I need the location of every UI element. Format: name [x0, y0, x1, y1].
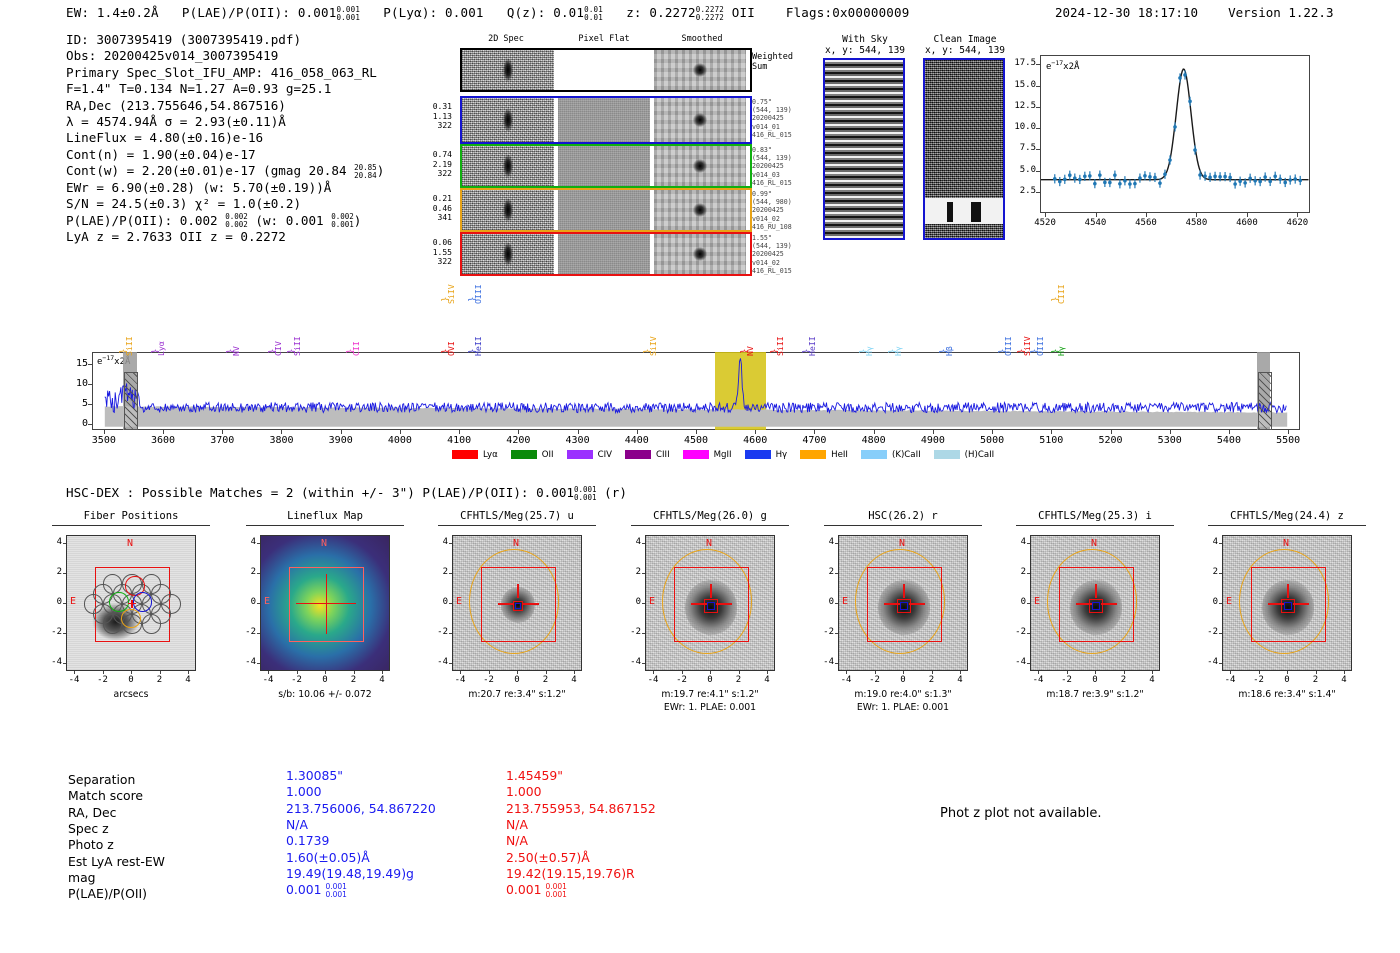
lineplot-xtick [1196, 213, 1197, 217]
cutout-ytick-4: 4 [812, 537, 834, 547]
spectrum-xticklabel: 5100 [1026, 435, 1076, 446]
cutout-tickmark [1027, 603, 1030, 604]
cutout-tickmark [835, 603, 838, 604]
match-table-red-3: N/A [506, 817, 528, 833]
spectrum-legend-item: MgII [683, 450, 732, 460]
cutout-ytick-1: 4 [234, 537, 256, 547]
spectrum-xtick [696, 430, 697, 434]
cutout-ytick-0: 2 [40, 567, 62, 577]
cutout-caption2-4: EWr: 1. PLAE: 0.001 [812, 702, 994, 714]
lineplot-xticklabel: 4520 [1025, 218, 1065, 228]
match-table-label-0: Separation [68, 772, 135, 788]
cutout-tickmark [1124, 671, 1125, 674]
cutout-tickmark [932, 671, 933, 674]
info-line: ID: 3007395419 (3007395419.pdf) [66, 32, 384, 48]
cutout-ytick-3: 0 [619, 597, 641, 607]
spec2d-row-0 [460, 96, 752, 144]
cutout-tickmark [1287, 671, 1288, 674]
lineplot-ytick [1036, 149, 1040, 150]
spectrum-emission-tick: } [441, 297, 451, 302]
cutout-tickmark [1027, 543, 1030, 544]
cutout-xtick-3: 0 [696, 675, 724, 685]
cutout-tickmark [960, 671, 961, 674]
lineplot-ytick [1036, 128, 1040, 129]
spectrum-xtick [400, 430, 401, 434]
cutout-tickmark [188, 671, 189, 674]
cutout-caption-0: arcsecs [40, 689, 222, 701]
cutout-xtick-4: 0 [889, 675, 917, 685]
cutout-tickmark [835, 633, 838, 634]
cutout-caption-1: s/b: 10.06 +/- 0.072 [234, 689, 416, 701]
spectrum-emission-tick: } [346, 349, 356, 354]
cutout-tickmark [449, 603, 452, 604]
header-plae-lo: 0.001 [336, 13, 360, 22]
cutout-ytick-3: 4 [619, 537, 641, 547]
cutout-axes-3[interactable]: NE [645, 535, 775, 671]
info-line: P(LAE)/P(OII): 0.002 0.0020.002 (w: 0.00… [66, 213, 384, 230]
cutout-crosshair-top-5 [1095, 584, 1096, 598]
lineplot-xticklabel: 4580 [1176, 218, 1216, 228]
cutout-ytick-3: -2 [619, 627, 641, 637]
cutout-caption-4: m:19.0 re:4.0" s:1.3" [812, 689, 994, 701]
header-z-label: z: [626, 5, 641, 20]
cutout-axes-5[interactable]: NE [1030, 535, 1160, 671]
spectrum-xticklabel: 5400 [1204, 435, 1254, 446]
info-line: RA,Dec (213.755646,54.867516) [66, 98, 384, 114]
lineplot-yticklabel: 5.0 [1002, 165, 1036, 175]
lineplot-yticklabel: 17.5 [1002, 58, 1036, 68]
spec2d-row-right-label-0: 0.75" (544, 139) 20200425 v014_01 416_RL… [752, 98, 792, 139]
spectrum-legend-swatch [934, 450, 960, 459]
spectrum-legend-label: (K)CaII [892, 450, 921, 460]
compass-east: E [70, 596, 76, 607]
info-line: LineFlux = 4.80(±0.16)e-16 [66, 130, 384, 146]
spectrum-legend-label: OII [542, 450, 554, 460]
cutout-title-underline [1016, 525, 1174, 526]
spectrum-xtick [1051, 430, 1052, 434]
cutout-axes-6[interactable]: NE [1222, 535, 1352, 671]
spectrum-xtick [814, 430, 815, 434]
cutout-tickmark [449, 633, 452, 634]
cutout-subtitle-text: x, y: 544, 139 [820, 45, 910, 56]
cutout-ytick-6: 2 [1196, 567, 1218, 577]
spectrum-xtick [222, 430, 223, 434]
cutout-title-underline [246, 525, 404, 526]
cutout-tickmark [1219, 573, 1222, 574]
lineplot-yticklabel: 10.0 [1002, 122, 1036, 132]
spectrum-yticklabel: 5 [64, 398, 88, 409]
cutout-xtick-6: -4 [1216, 675, 1244, 685]
spec2d-source-blob [496, 234, 520, 274]
lineplot-xtick [1045, 213, 1046, 217]
cutout-axes-1[interactable]: NE [260, 535, 390, 671]
spectrum-xtick [1288, 430, 1289, 434]
spec2d-cell [558, 146, 650, 186]
cutout-crosshair-top-2 [517, 584, 518, 598]
cutout-ytick-1: -2 [234, 627, 256, 637]
cutout-caption2-3: EWr: 1. PLAE: 0.001 [619, 702, 801, 714]
cutout-title-underline [438, 525, 596, 526]
info-line: F=1.4" T=0.134 N=1.27 A=0.93 g=25.1 [66, 81, 384, 97]
lineplot-xticklabel: 4600 [1227, 218, 1267, 228]
cutout-tickmark [382, 671, 383, 674]
cutout-tickmark [160, 671, 161, 674]
cutout-xtick-2: -2 [475, 675, 503, 685]
cutout-caption-3: m:19.7 re:4.1" s:1.2" [619, 689, 801, 701]
spectrum-legend-item: CIII [625, 450, 670, 460]
cutout-title-6: CFHTLS/Meg(24.4) z [1200, 510, 1374, 522]
cutout-tickmark [835, 573, 838, 574]
cutout-crosshair-right-6 [1293, 603, 1309, 604]
hscdex-sub: 0.001 [574, 493, 597, 502]
cutout-crosshair-top-6 [1287, 584, 1288, 598]
info-line: Primary Spec_Slot_IFU_AMP: 416_058_063_R… [66, 65, 384, 81]
spectrum-yticklabel: 15 [64, 358, 88, 369]
cutout-axes-0[interactable]: NE [66, 535, 196, 671]
header-version: Version 1.22.3 [1228, 5, 1333, 20]
spec2d-source-blob [496, 98, 520, 142]
cutout-tickmark [297, 671, 298, 674]
spectrum-emission-tick: } [226, 349, 236, 354]
cutout-tickmark [767, 671, 768, 674]
lineplot-yticklabel: 12.5 [1002, 101, 1036, 111]
cutout-caption-2: m:20.7 re:3.4" s:1.2" [426, 689, 608, 701]
cutout-pixels [825, 60, 903, 238]
spectrum-legend-label: (H)CaII [965, 450, 995, 460]
cutout-xtick-0: -4 [60, 675, 88, 685]
spectrum-ytick [88, 424, 92, 425]
cutout-crosshair-right-4 [909, 603, 925, 604]
cutout-xtick-2: 4 [560, 675, 588, 685]
spec2d-title-0: 2D Spec [476, 34, 536, 44]
cutout-ytick-3: -4 [619, 657, 641, 667]
cutout-ytick-4: 2 [812, 567, 834, 577]
spectrum-xticklabel: 5500 [1263, 435, 1313, 446]
cutout-tickmark [268, 671, 269, 674]
spectrum-xtick [933, 430, 934, 434]
spectrum-emission-tick: } [939, 349, 949, 354]
spectrum-emission-tick: } [998, 349, 1008, 354]
hscdex-summary-line: HSC-DEX : Possible Matches = 2 (within +… [66, 485, 627, 502]
cutout-caption-6: m:18.6 re:3.4" s:1.4" [1196, 689, 1378, 701]
spec2d-cell [558, 234, 650, 274]
cutout-ytick-2: -4 [426, 657, 448, 667]
cutout-tickmark [257, 573, 260, 574]
header-z-lo: 0.2272 [696, 13, 724, 22]
cutout-title-4: HSC(26.2) r [816, 510, 990, 522]
cutout-xtick-5: 0 [1081, 675, 1109, 685]
lineplot-xtick [1146, 213, 1147, 217]
lineplot-yticklabel: 2.5 [1002, 186, 1036, 196]
spectrum-emission-tick: } [468, 349, 478, 354]
cutout-xtick-0: 4 [174, 675, 202, 685]
spec2d-cell [558, 50, 650, 90]
cutout-xtick-4: -2 [861, 675, 889, 685]
spectrum-xtick [755, 430, 756, 434]
gmag-range: 20.8520.84 [354, 164, 377, 180]
compass-east: E [456, 596, 462, 607]
compass-east: E [1226, 596, 1232, 607]
cutout-tickmark [257, 543, 260, 544]
cutout-tickmark [63, 603, 66, 604]
spectrum-legend-swatch [625, 450, 651, 459]
cutout-tickmark [103, 671, 104, 674]
cutout-ytick-2: 2 [426, 567, 448, 577]
lineplot-xticklabel: 4560 [1126, 218, 1166, 228]
spec2d-row-right-label-1: 0.83" (544, 139) 20200425 v014_03 416_RL… [752, 146, 792, 187]
cutout-axes-4[interactable]: NE [838, 535, 968, 671]
spectrum-xtick [1229, 430, 1230, 434]
lineplot-ytick [1036, 86, 1040, 87]
match-table-red-0: 1.45459" [506, 768, 563, 784]
cutout-tickmark [642, 633, 645, 634]
spec2d-source-blob [688, 146, 712, 186]
cutout-tickmark [1095, 671, 1096, 674]
spectrum-yticklabel: 0 [64, 418, 88, 429]
compass-north: N [1283, 538, 1289, 549]
detection-info-block: ID: 3007395419 (3007395419.pdf)Obs: 2020… [66, 32, 384, 245]
cutout-tickmark [449, 663, 452, 664]
cutout-ytick-5: 2 [1004, 567, 1026, 577]
match-table-label-4: Photo z [68, 837, 114, 853]
spectrum-legend-item: Lyα [452, 450, 498, 460]
cutout-tickmark [257, 603, 260, 604]
cutout-xtick-3: -2 [668, 675, 696, 685]
spectrum-xticklabel: 3800 [256, 435, 306, 446]
match-table-red-4: N/A [506, 833, 528, 849]
match-table-label-1: Match score [68, 788, 143, 804]
cutout-xtick-5: 2 [1110, 675, 1138, 685]
cutout-ytick-6: 4 [1196, 537, 1218, 547]
cutout-ytick-2: 0 [426, 597, 448, 607]
hscdex-filter: (r) [604, 485, 627, 500]
cutout-title-3: CFHTLS/Meg(26.0) g [623, 510, 797, 522]
match-table-red-6: 19.42(19.15,19.76)R [506, 866, 635, 882]
lineplot-ytick [1036, 64, 1040, 65]
compass-north: N [899, 538, 905, 549]
cutout-tickmark [1219, 663, 1222, 664]
lineflux-redbox [289, 567, 364, 642]
spec2d-weighted-sum-row [460, 48, 752, 92]
cutout-tickmark [642, 543, 645, 544]
compass-east: E [1034, 596, 1040, 607]
cutout-ytick-3: 2 [619, 567, 641, 577]
match-table-label-3: Spec z [68, 821, 109, 837]
clean-image-mask-block [971, 202, 981, 222]
cutout-tickmark [1027, 573, 1030, 574]
spectrum-emission-tick: } [287, 349, 297, 354]
cutout-tickmark [63, 663, 66, 664]
cutout-ytick-2: -2 [426, 627, 448, 637]
spectrum-ytick [88, 404, 92, 405]
cutout-tickmark [682, 671, 683, 674]
spectrum-emission-tick: } [119, 349, 129, 354]
info-line: LyA z = 2.7633 OII z = 0.2272 [66, 229, 384, 245]
spectrum-emission-tick: } [268, 349, 278, 354]
cutout-title-underline [824, 525, 982, 526]
spectrum-xticklabel: 3900 [316, 435, 366, 446]
spectrum-xticklabel: 5200 [1086, 435, 1136, 446]
match-table-red-7-range: 0.0010.001 [545, 883, 566, 899]
spectrum-legend-label: CIV [598, 450, 612, 460]
header-z-species: OII [732, 5, 755, 20]
cutout-ytick-4: -4 [812, 657, 834, 667]
compass-north: N [127, 538, 133, 549]
header-z-value: 0.2272 [649, 5, 695, 20]
info-line: Cont(n) = 1.90(±0.04)e-17 [66, 147, 384, 163]
cutout-ytick-4: -2 [812, 627, 834, 637]
lineplot-xtick [1096, 213, 1097, 217]
cutout-title-clean-image: Clean Imagex, y: 544, 139 [920, 34, 1010, 56]
photoz-note: Phot z plot not available. [940, 806, 1102, 821]
spectrum-hatch-marker [124, 372, 138, 430]
match-table-label-7: P(LAE)/P(OII) [68, 886, 147, 902]
header-flags: Flags:0x00000009 [786, 5, 910, 20]
cutout-axes-2[interactable]: NE [452, 535, 582, 671]
spectrum-xticklabel: 4000 [375, 435, 425, 446]
compass-north: N [321, 538, 327, 549]
spectrum-xticklabel: 3500 [79, 435, 129, 446]
match-table-blue-6: 19.49(19.48,19.49)g [286, 866, 414, 882]
cutout-tickmark [449, 543, 452, 544]
spectrum-ytick [88, 364, 92, 365]
spec2d-title-1: Pixel Flat [574, 34, 634, 44]
cutout-tickmark [1038, 671, 1039, 674]
match-table-blue-2: 213.756006, 54.867220 [286, 801, 436, 817]
cutout-inner-blue-box-5 [1092, 602, 1100, 610]
cutout-inner-blue-box-3 [707, 602, 715, 610]
spectrum-legend-label: Lyα [483, 450, 498, 460]
spectrum-legend-label: HeII [831, 450, 848, 460]
spec2d-title-2: Smoothed [672, 34, 732, 44]
match-table-label-6: mag [68, 870, 96, 886]
spectrum-xticklabel: 3600 [138, 435, 188, 446]
cutout-xtick-0: 0 [117, 675, 145, 685]
info-line: Obs: 20200425v014_3007395419 [66, 48, 384, 64]
plae-w-range: 0.0020.001 [331, 213, 354, 229]
cutout-xtick-6: -2 [1245, 675, 1273, 685]
header-plya: P(Lyα): 0.001 [383, 5, 483, 20]
spec2d-row-left-label-1: 0.74 2.19 322 [418, 150, 452, 179]
cutout-xtick-6: 4 [1330, 675, 1358, 685]
cutout-xtick-1: 4 [368, 675, 396, 685]
spectrum-hatch-marker [1258, 372, 1272, 430]
cutout-tickmark [1219, 603, 1222, 604]
compass-east: E [649, 596, 655, 607]
cutout-xtick-2: 2 [532, 675, 560, 685]
cutout-ytick-5: 4 [1004, 537, 1026, 547]
spectrum-legend-label: MgII [714, 450, 732, 460]
cutout-title-with-sky: With Skyx, y: 544, 139 [820, 34, 910, 56]
spectrum-xtick [281, 430, 282, 434]
fiber-circle [142, 614, 162, 634]
match-table-blue-5: 1.60(±0.05)Å [286, 850, 370, 866]
spectrum-xtick [341, 430, 342, 434]
cutout-tickmark [846, 671, 847, 674]
spectrum-legend-item: HeII [800, 450, 848, 460]
cutout-tickmark [517, 671, 518, 674]
spectrum-xticklabel: 3700 [197, 435, 247, 446]
cutout-crosshair-right-5 [1101, 603, 1117, 604]
spectrum-emission-tick: } [1030, 349, 1040, 354]
spectrum-emission-tick: } [441, 349, 451, 354]
cutout-crosshair-left-2 [498, 603, 514, 604]
cutout-tickmark [1259, 671, 1260, 674]
cutout-image-with-sky [823, 58, 905, 240]
spectrum-legend-swatch [745, 450, 771, 459]
cutout-xtick-4: 4 [946, 675, 974, 685]
cutout-caption-5: m:18.7 re:3.9" s:1.2" [1004, 689, 1186, 701]
spectrum-xtick [874, 430, 875, 434]
fiber-center-marker [131, 600, 132, 608]
lineplot-xtick [1247, 213, 1248, 217]
cutout-tickmark [835, 663, 838, 664]
cutout-title-1: Lineflux Map [238, 510, 412, 522]
cutout-tickmark [449, 573, 452, 574]
cutout-tickmark [325, 671, 326, 674]
spectrum-xtick [1170, 430, 1171, 434]
spectrum-xtick [992, 430, 993, 434]
cutout-tickmark [257, 663, 260, 664]
spectrum-legend-swatch [511, 450, 537, 459]
lineplot-yticklabel: 7.5 [1002, 143, 1036, 153]
fiber-circle-highlight-3 [121, 609, 141, 629]
cutout-image-clean-image [923, 58, 1005, 240]
cutout-tickmark [63, 573, 66, 574]
cutout-xtick-0: 2 [146, 675, 174, 685]
cutout-xtick-3: -4 [639, 675, 667, 685]
spec2d-source-blob [688, 98, 712, 142]
lineplot-ytick [1036, 171, 1040, 172]
header-timestamp: 2024-12-30 18:17:10 [1055, 5, 1198, 20]
match-table-blue-7: 0.001 0.0010.001 [286, 882, 347, 899]
cutout-tickmark [574, 671, 575, 674]
compass-north: N [706, 538, 712, 549]
spectrum-trace [93, 353, 1299, 429]
cutout-xtick-0: -2 [89, 675, 117, 685]
match-table-red-5: 2.50(±0.57)Å [506, 850, 590, 866]
compass-east: E [264, 596, 270, 607]
cutout-ytick-0: -4 [40, 657, 62, 667]
cutout-ytick-6: -4 [1196, 657, 1218, 667]
lineplot-xtick [1297, 213, 1298, 217]
spectrum-emission-tick: } [770, 349, 780, 354]
spectrum-emission-tick: } [888, 349, 898, 354]
cutout-xtick-5: -2 [1053, 675, 1081, 685]
cutout-title-2: CFHTLS/Meg(25.7) u [430, 510, 604, 522]
spec2d-source-blob [688, 234, 712, 274]
spec2d-source-blob [496, 146, 520, 186]
cutout-ytick-5: -4 [1004, 657, 1026, 667]
lineplot-curve [1041, 56, 1309, 212]
spectrum-xtick [459, 430, 460, 434]
cutout-xtick-6: 2 [1302, 675, 1330, 685]
cutout-xtick-1: 2 [340, 675, 368, 685]
cutout-tickmark [642, 603, 645, 604]
cutout-tickmark [903, 671, 904, 674]
cutout-xtick-1: -4 [254, 675, 282, 685]
match-table-label-5: Est LyA rest-EW [68, 854, 165, 870]
info-line: S/N = 24.5(±0.3) χ² = 1.0(±0.2) [66, 196, 384, 212]
spectrum-legend-item: CIV [567, 450, 612, 460]
cutout-tickmark [131, 671, 132, 674]
spectrum-emission-tick: } [643, 349, 653, 354]
cutout-xtick-4: -4 [832, 675, 860, 685]
cutout-subtitle-text: x, y: 544, 139 [920, 45, 1010, 56]
spec2d-row-left-label-3: 0.06 1.55 322 [418, 238, 452, 267]
cutout-tickmark [354, 671, 355, 674]
cutout-tickmark [1152, 671, 1153, 674]
